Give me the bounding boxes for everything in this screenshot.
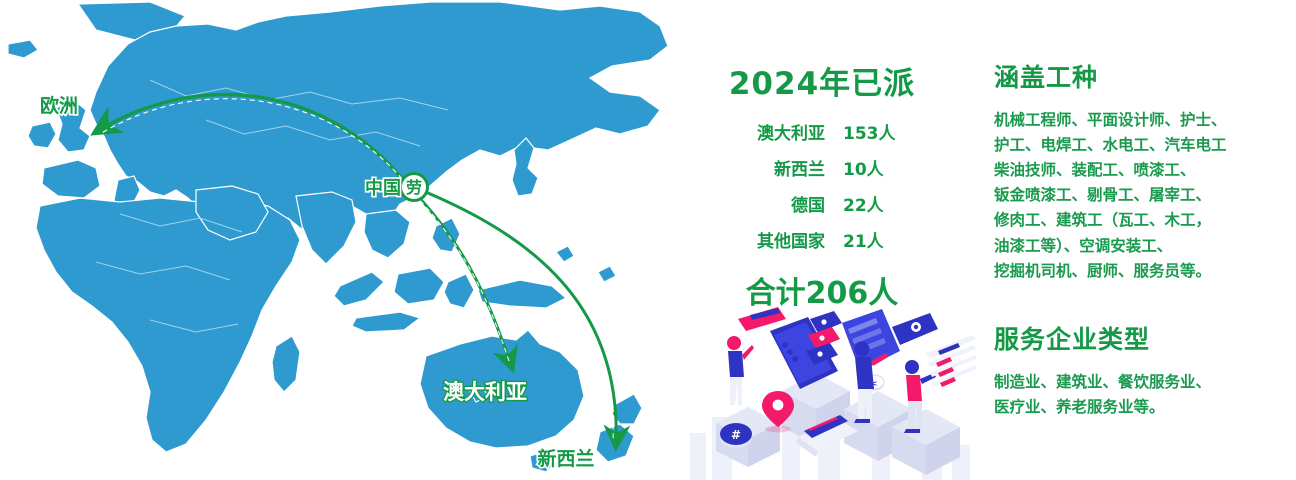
china-marker[interactable]: 劳 bbox=[401, 174, 428, 201]
stats-row: 新西兰 10人 bbox=[729, 155, 915, 180]
job-types-line: 钣金喷漆工、剔骨工、屠宰工、 bbox=[994, 183, 1284, 208]
land-iceland bbox=[8, 40, 38, 58]
land-madagascar bbox=[272, 336, 300, 392]
land-newguinea bbox=[478, 280, 566, 308]
service-industries-title: 服务企业类型 bbox=[994, 320, 1284, 356]
land-india bbox=[296, 192, 356, 264]
stats-row: 德国 22人 bbox=[729, 191, 915, 216]
world-map-panel: 劳 欧洲 中国 澳大利亚 新西兰 bbox=[0, 0, 680, 480]
land-iberia bbox=[42, 160, 100, 198]
isometric-illustration: # < bbox=[686, 305, 976, 480]
service-industries-section: 服务企业类型 制造业、建筑业、餐饮服务业、 医疗业、养老服务业等。 bbox=[994, 320, 1284, 420]
stats-row: 澳大利亚 153人 bbox=[729, 119, 915, 144]
dispatch-stats-panel: 2024年已派 澳大利亚 153人 新西兰 10人 德国 22人 其他国家 21… bbox=[672, 58, 972, 312]
map-label-europe: 欧洲 bbox=[40, 94, 78, 117]
stats-value: 22人 bbox=[825, 191, 915, 216]
job-types-line: 修肉工、建筑工（瓦工、木工， bbox=[994, 208, 1284, 233]
map-label-australia: 澳大利亚 bbox=[443, 380, 527, 404]
land-pacific-isle-1 bbox=[556, 246, 574, 262]
map-label-china: 中国 bbox=[365, 177, 401, 199]
illus-hash-badge-icon: # bbox=[720, 423, 752, 448]
illus-list-panel-right bbox=[926, 335, 976, 387]
land-sulawesi bbox=[444, 274, 474, 308]
info-panel: 涵盖工种 机械工程师、平面设计师、护士、 护工、电焊工、水电工、汽车电工 柴油技… bbox=[994, 58, 1284, 420]
stats-country: 新西兰 bbox=[729, 155, 825, 180]
illus-app-tiles bbox=[806, 311, 842, 365]
isometric-illustration-svg: # < bbox=[686, 305, 976, 480]
map-label-newzealand: 新西兰 bbox=[537, 447, 594, 470]
svg-text:#: # bbox=[731, 428, 741, 442]
illus-card-top-left bbox=[738, 307, 786, 331]
job-types-line: 挖掘机司机、厨师、服务员等。 bbox=[994, 259, 1284, 284]
job-types-line: 机械工程师、平面设计师、护士、 bbox=[994, 108, 1284, 133]
stats-value: 21人 bbox=[825, 227, 915, 252]
illus-card-right bbox=[892, 313, 938, 345]
stats-rows: 澳大利亚 153人 新西兰 10人 德国 22人 其他国家 21人 bbox=[729, 119, 915, 252]
job-types-line: 护工、电焊工、水电工、汽车电工 bbox=[994, 133, 1284, 158]
service-industries-line: 制造业、建筑业、餐饮服务业、 bbox=[994, 370, 1284, 395]
service-industries-body: 制造业、建筑业、餐饮服务业、 医疗业、养老服务业等。 bbox=[994, 370, 1284, 420]
job-types-line: 柴油技师、装配工、喷漆工、 bbox=[994, 158, 1284, 183]
land-java bbox=[352, 312, 420, 332]
land-indochina bbox=[364, 210, 410, 258]
stats-country: 澳大利亚 bbox=[729, 119, 825, 144]
land-pacific-isle-2 bbox=[598, 266, 616, 282]
land-sumatra bbox=[334, 272, 384, 306]
world-map-svg: 劳 欧洲 中国 澳大利亚 新西兰 bbox=[0, 0, 680, 480]
stats-heading: 2024年已派 bbox=[672, 58, 972, 103]
stats-value: 10人 bbox=[825, 155, 915, 180]
job-types-body: 机械工程师、平面设计师、护士、 护工、电焊工、水电工、汽车电工 柴油技师、装配工… bbox=[994, 108, 1284, 284]
stats-country: 德国 bbox=[729, 191, 825, 216]
job-types-line: 油漆工等）、空调安装工、 bbox=[994, 234, 1284, 259]
china-marker-glyph: 劳 bbox=[406, 178, 422, 197]
stats-row: 其他国家 21人 bbox=[729, 227, 915, 252]
map-landmasses bbox=[8, 2, 668, 472]
service-industries-line: 医疗业、养老服务业等。 bbox=[994, 395, 1284, 420]
stats-value: 153人 bbox=[825, 119, 915, 144]
job-types-section: 涵盖工种 机械工程师、平面设计师、护士、 护工、电焊工、水电工、汽车电工 柴油技… bbox=[994, 58, 1284, 284]
land-borneo bbox=[394, 268, 444, 304]
job-types-title: 涵盖工种 bbox=[994, 58, 1284, 94]
land-ireland bbox=[28, 122, 56, 148]
illus-person-left bbox=[727, 336, 754, 405]
stats-country: 其他国家 bbox=[729, 227, 825, 252]
